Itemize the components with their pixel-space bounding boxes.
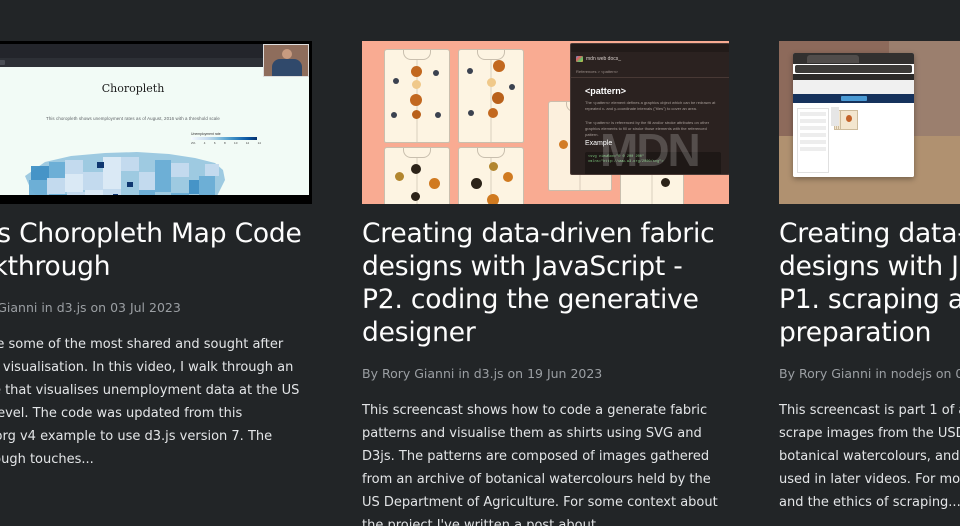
post-byline: By Rory Gianni in nodejs on 09 Jun 2023 — [779, 366, 960, 382]
pattern-dot — [393, 78, 399, 84]
address-bar — [795, 65, 912, 73]
pattern-dot — [488, 108, 498, 118]
pattern-dot — [559, 140, 568, 149]
map-svg — [9, 136, 249, 195]
post-title[interactable]: Creating data-driven fabric designs with… — [362, 217, 729, 349]
pattern-dot — [412, 110, 421, 119]
pattern-dot — [410, 94, 422, 106]
pattern-dot — [492, 92, 504, 104]
post-text: Creating data-driven fabric designs with… — [362, 217, 729, 526]
shirt-collar-icon — [477, 50, 505, 60]
result-row — [837, 107, 839, 126]
search-results-page — [793, 80, 914, 177]
pattern-dot — [468, 110, 474, 116]
pattern-dot — [471, 178, 482, 189]
post-thumbnail[interactable]: mdn web docs_ References > <pattern> <pa… — [362, 41, 729, 204]
docs-brand-label: mdn web docs_ — [586, 56, 621, 62]
mdn-watermark: MDN — [600, 123, 699, 177]
facet-row — [800, 126, 826, 130]
post-text: D3.js Choropleth Map Code Walkthrough By… — [0, 217, 312, 471]
pattern-dot — [487, 194, 499, 204]
choropleth-screencast-thumbnail: Choropleth This choropleth shows unemplo… — [0, 41, 312, 204]
docs-paragraph: The <pattern> element defines a graphics… — [585, 100, 721, 112]
docs-heading: <pattern> — [585, 86, 626, 96]
post-card[interactable]: Creating data-driven fabric designs with… — [779, 41, 960, 514]
shirt-collar-icon — [403, 50, 431, 60]
post-card-strip: Choropleth This choropleth shows unemplo… — [0, 41, 960, 526]
post-card[interactable]: mdn web docs_ References > <pattern> <pa… — [362, 41, 729, 526]
facet-row — [800, 147, 826, 151]
pattern-dot — [503, 172, 513, 182]
facet-row — [800, 133, 826, 137]
pattern-dot — [661, 178, 670, 187]
browser-titlebar — [793, 53, 914, 64]
browser-tab — [807, 55, 859, 63]
shirt-illustration — [384, 147, 450, 204]
pattern-dot — [429, 178, 440, 189]
mdn-logo-icon — [576, 56, 583, 62]
shirt-illustration — [458, 49, 524, 143]
shirt-collar-icon — [403, 148, 431, 158]
facet-row — [800, 112, 826, 116]
shirt-collar-icon — [477, 148, 505, 158]
post-text: Creating data-driven fabric designs with… — [779, 217, 960, 514]
pattern-dot — [411, 192, 420, 201]
pattern-dot — [489, 162, 498, 171]
slide-title: Choropleth — [0, 82, 309, 95]
image-scraping-desktop-thumbnail — [779, 41, 960, 204]
pattern-dot — [493, 60, 505, 72]
panel-divider — [571, 77, 729, 78]
pattern-dot — [487, 78, 496, 87]
post-title[interactable]: Creating data-driven fabric designs with… — [779, 217, 960, 349]
pattern-dot — [435, 112, 441, 118]
slide-subtitle: This choropleth shows unemployment rates… — [0, 116, 309, 121]
presenter-head-icon — [282, 49, 292, 59]
post-byline: By Rory Gianni in d3.js on 03 Jul 2023 — [0, 300, 312, 316]
post-card[interactable]: Choropleth This choropleth shows unemplo… — [0, 41, 312, 471]
post-thumbnail[interactable]: Choropleth This choropleth shows unemplo… — [0, 41, 312, 204]
results-list — [831, 108, 911, 173]
shirt-illustration — [384, 49, 450, 143]
pattern-dot — [412, 80, 421, 89]
presenter-body-icon — [272, 59, 302, 77]
pattern-dot — [391, 112, 397, 118]
us-choropleth-map — [9, 136, 249, 195]
post-excerpt: Maps are some of the most shared and sou… — [0, 333, 312, 471]
facet-sidebar — [797, 108, 829, 173]
panel-titlebar — [571, 44, 729, 52]
site-header — [793, 80, 914, 95]
post-excerpt: This screencast is part 1 of a series. I… — [779, 399, 960, 514]
fabric-designs-pattern-thumbnail: mdn web docs_ References > <pattern> <pa… — [362, 41, 729, 204]
facet-row — [800, 140, 826, 144]
pattern-dot — [411, 66, 422, 77]
post-title[interactable]: D3.js Choropleth Map Code Walkthrough — [0, 217, 312, 283]
post-excerpt: This screencast shows how to code a gene… — [362, 399, 729, 526]
pattern-dot — [395, 172, 404, 181]
result-thumbnail-icon — [840, 110, 858, 130]
docs-breadcrumb: References > <pattern> — [576, 69, 618, 74]
presenter-webcam — [263, 44, 309, 77]
pattern-dot — [433, 70, 439, 76]
facet-row — [800, 119, 826, 123]
post-listing-page: Choropleth This choropleth shows unemplo… — [0, 0, 960, 526]
pattern-dot — [467, 68, 473, 74]
usda-search-browser-window — [793, 53, 914, 177]
post-thumbnail[interactable] — [779, 41, 960, 204]
legend-tick: 14 — [258, 141, 261, 145]
pattern-dot — [509, 84, 515, 90]
shirt-illustration — [458, 147, 524, 204]
pattern-dot — [411, 164, 421, 174]
search-button — [841, 96, 867, 101]
post-byline: By Rory Gianni in d3.js on 19 Jun 2023 — [362, 366, 729, 382]
